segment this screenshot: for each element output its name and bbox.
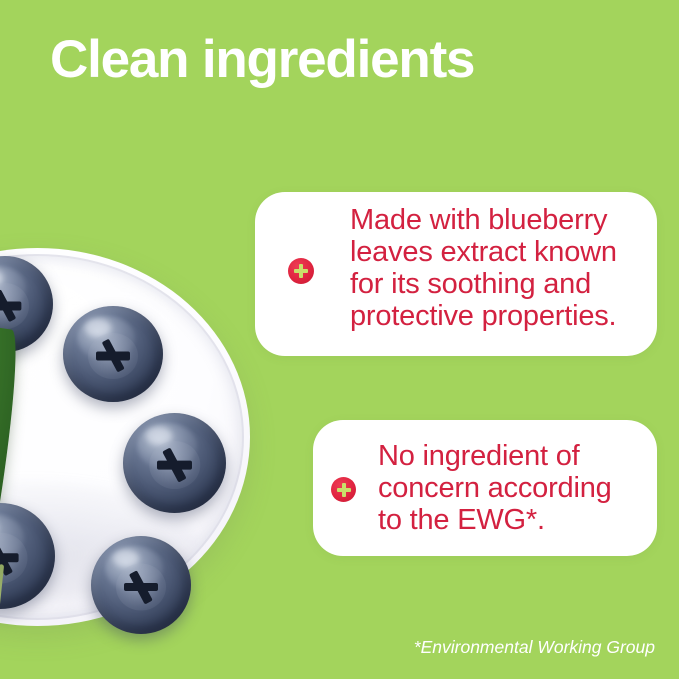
- berry-calyx-star: [0, 290, 21, 323]
- berry-calyx-star: [96, 340, 130, 373]
- infographic-canvas: Clean ingredients: [0, 0, 679, 679]
- plus-vertical-bar: [342, 483, 346, 497]
- plus-circle-icon: [331, 477, 356, 502]
- page-title: Clean ingredients: [50, 32, 474, 88]
- blueberry: [63, 306, 163, 402]
- footnote-disclaimer: *Environmental Working Group: [414, 637, 655, 658]
- blueberry-photo: [0, 248, 250, 628]
- benefit-card-text: Made with blueberry leaves extract known…: [350, 204, 650, 332]
- blueberry: [91, 536, 191, 634]
- berry-calyx-star: [157, 448, 192, 482]
- benefit-card-text: No ingredient of concern according to th…: [378, 440, 650, 536]
- plus-circle-icon: [288, 258, 314, 284]
- blueberry: [123, 413, 226, 513]
- berry-calyx-star: [124, 570, 158, 603]
- petri-dish: [0, 248, 250, 626]
- plus-vertical-bar: [299, 264, 303, 279]
